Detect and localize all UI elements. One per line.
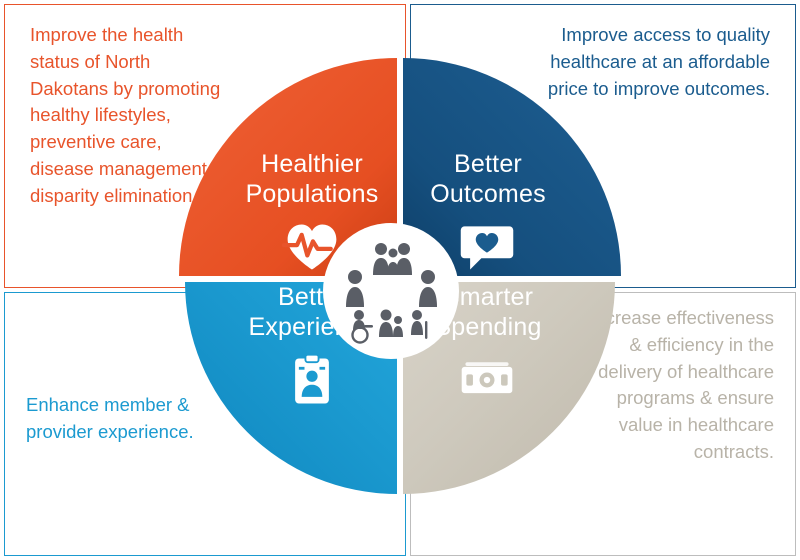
heart-speech-bubble-icon <box>457 220 517 274</box>
clipboard-person-icon <box>282 353 342 407</box>
diagram-canvas: Improve the health status of North Dakot… <box>0 0 800 560</box>
quadrant-label-better-outcomes: Better Outcomes <box>393 150 583 209</box>
group-of-people-icon <box>325 225 457 357</box>
money-bill-icon <box>457 353 517 407</box>
quadrant-label-healthier-populations: Healthier Populations <box>217 150 407 209</box>
